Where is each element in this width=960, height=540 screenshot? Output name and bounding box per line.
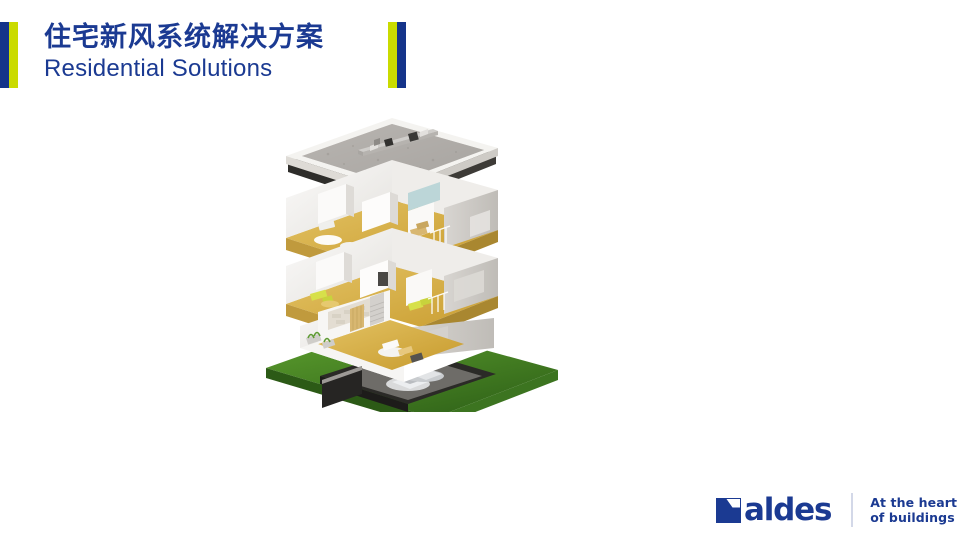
footer-logo-lockup: aldes At the heart of buildings	[716, 488, 957, 532]
accent-bar-lime-segment	[9, 22, 18, 88]
page-title-cn: 住宅新风系统解决方案	[44, 22, 324, 54]
accent-bar-navy-segment	[0, 22, 9, 88]
page-title-en: Residential Solutions	[44, 54, 324, 84]
aldes-logo: aldes	[716, 495, 831, 526]
title-accent-bar-left	[0, 22, 18, 88]
aldes-square-mark-icon	[716, 498, 741, 523]
slide-root: 住宅新风系统解决方案 Residential Solutions	[0, 0, 960, 540]
title-text-group: 住宅新风系统解决方案 Residential Solutions	[44, 22, 324, 88]
building-illustration	[258, 112, 588, 412]
accent-bar-navy-segment-right	[397, 22, 406, 88]
title-accent-bar-right	[388, 22, 406, 88]
accent-bar-lime-segment-right	[388, 22, 397, 88]
brand-tagline-line1: At the heart	[870, 495, 957, 510]
brand-tagline: At the heart of buildings	[870, 495, 957, 525]
logo-divider	[851, 493, 853, 527]
brand-tagline-line2: of buildings	[870, 510, 957, 525]
aldes-wordmark: aldes	[744, 495, 831, 526]
aldes-square-mark-svg	[716, 498, 741, 523]
building-illustration-svg	[258, 112, 588, 412]
title-block: 住宅新风系统解决方案 Residential Solutions	[0, 22, 324, 88]
